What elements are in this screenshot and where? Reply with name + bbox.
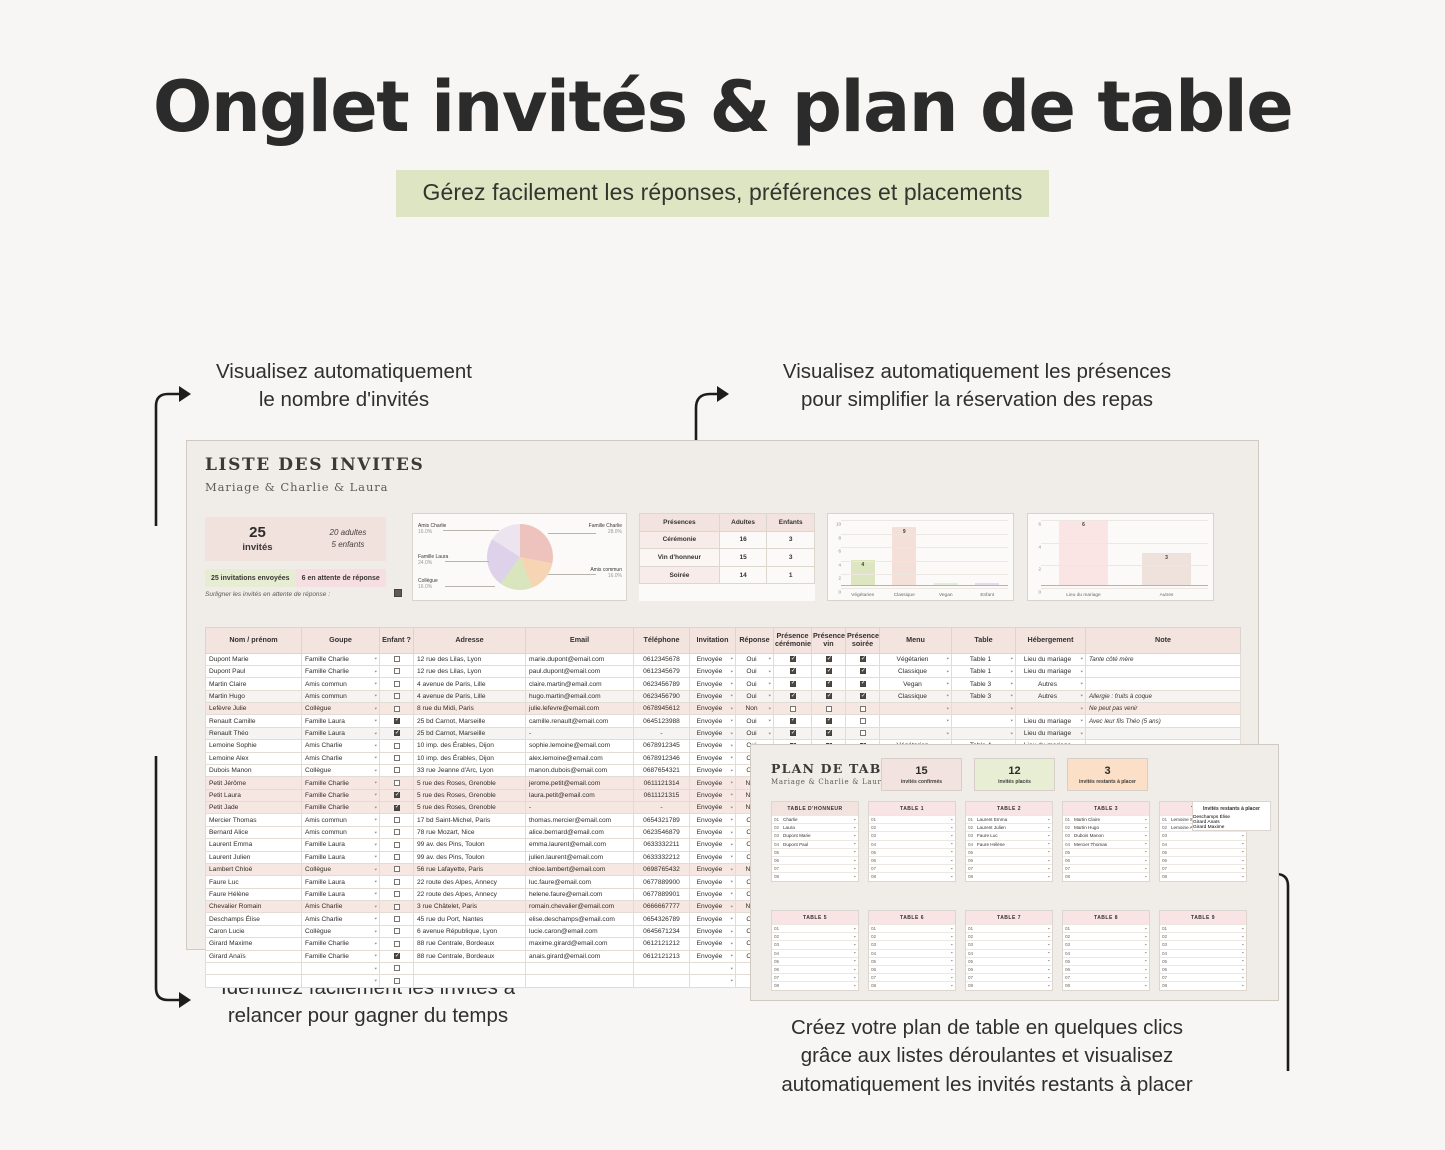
cell-groupe-dropdown[interactable]: Famille Laura [302,876,380,888]
guest-table-header-cell[interactable]: Hébergement [1016,628,1086,654]
plan-seat-row[interactable]: 01 [1063,924,1149,932]
plan-seat-row[interactable]: 07 [772,973,858,981]
cell-nom-prenom[interactable]: Lemoine Alex [206,752,302,764]
plan-seat-row[interactable]: 04Faure Hélène [966,840,1052,848]
cell-email[interactable]: laura.petit@email.com [526,789,634,801]
cell-email[interactable]: chloe.lambert@email.com [526,863,634,875]
cell-nom-prenom[interactable]: Petit Jérôme [206,777,302,789]
cell-hebergement-dropdown[interactable]: Lieu du mariage [1016,727,1086,739]
cell-email[interactable]: marie.dupont@email.com [526,653,634,665]
cell-telephone[interactable] [634,962,690,974]
cell-adresse[interactable]: 22 route des Alpes, Annecy [414,876,526,888]
cell-enfant-checkbox[interactable] [394,706,400,712]
cell-invitation-dropdown[interactable]: Envoyée [690,802,736,814]
cell-enfant[interactable] [380,653,414,665]
cell-invitation-dropdown[interactable]: Envoyée [690,888,736,900]
plan-seat-row[interactable]: 02 [1160,932,1246,940]
cell-nom-prenom[interactable]: Petit Jade [206,802,302,814]
cell-groupe-dropdown[interactable]: Famille Charlie [302,802,380,814]
cell-presence-vin[interactable] [812,703,846,715]
plan-seat-row[interactable]: 01 [1160,924,1246,932]
cell-note[interactable]: Tante côté mère [1086,653,1241,665]
cell-menu-dropdown[interactable]: Végétarien [880,653,952,665]
cell-presence-soiree[interactable] [846,653,880,665]
cell-enfant-checkbox[interactable] [394,805,400,811]
cell-presence-soiree-checkbox[interactable] [860,718,866,724]
cell-invitation-dropdown[interactable]: Envoyée [690,752,736,764]
guest-table-header-cell[interactable]: Menu [880,628,952,654]
cell-table-dropdown[interactable] [952,715,1016,727]
plan-seat-row[interactable]: 06 [966,965,1052,973]
cell-groupe-dropdown[interactable]: Amis Charlie [302,913,380,925]
cell-enfant[interactable] [380,839,414,851]
plan-seat-row[interactable]: 03 [869,831,955,839]
plan-seat-row[interactable]: 05 [772,957,858,965]
cell-groupe-dropdown[interactable]: Collègue [302,764,380,776]
cell-enfant[interactable] [380,703,414,715]
plan-seat-row[interactable]: 03 [1160,831,1246,839]
cell-table-dropdown[interactable] [952,727,1016,739]
cell-note[interactable]: Ne peut pas venir [1086,703,1241,715]
cell-enfant-checkbox[interactable] [394,755,400,761]
cell-menu-dropdown[interactable] [880,715,952,727]
cell-adresse[interactable]: 12 rue des Lilas, Lyon [414,653,526,665]
plan-seat-row[interactable]: 08 [1160,981,1246,989]
cell-nom-prenom[interactable]: Caron Lucie [206,925,302,937]
cell-presence-vin[interactable] [812,678,846,690]
cell-enfant[interactable] [380,913,414,925]
plan-seat-row[interactable]: 04 [966,949,1052,957]
cell-presence-ceremonie-checkbox[interactable] [790,668,796,674]
cell-groupe-dropdown[interactable]: Amis Charlie [302,740,380,752]
cell-enfant-checkbox[interactable] [394,854,400,860]
cell-reponse-dropdown[interactable]: Oui [736,690,774,702]
cell-enfant[interactable] [380,975,414,987]
cell-telephone[interactable]: 0611121314 [634,777,690,789]
cell-adresse[interactable]: 5 rue des Roses, Grenoble [414,789,526,801]
plan-seat-row[interactable]: 02 [869,823,955,831]
cell-adresse[interactable]: 6 avenue République, Lyon [414,925,526,937]
plan-seat-row[interactable]: 01 [869,924,955,932]
cell-telephone[interactable]: 0612345678 [634,653,690,665]
guest-table-header-cell[interactable]: Invitation [690,628,736,654]
cell-groupe-dropdown[interactable]: Famille Charlie [302,938,380,950]
cell-email[interactable]: sophie.lemoine@email.com [526,740,634,752]
cell-enfant[interactable] [380,777,414,789]
plan-seat-row[interactable]: 06 [869,965,955,973]
cell-email[interactable]: romain.chevalier@email.com [526,901,634,913]
cell-enfant[interactable] [380,962,414,974]
cell-nom-prenom[interactable] [206,962,302,974]
plan-seat-row[interactable]: 03 [1160,940,1246,948]
cell-presence-vin-checkbox[interactable] [826,681,832,687]
cell-email[interactable] [526,962,634,974]
cell-groupe-dropdown[interactable]: Collègue [302,703,380,715]
cell-presence-vin-checkbox[interactable] [826,718,832,724]
cell-invitation-dropdown[interactable]: Envoyée [690,814,736,826]
cell-adresse[interactable]: 10 imp. des Érables, Dijon [414,752,526,764]
cell-menu-dropdown[interactable] [880,703,952,715]
cell-email[interactable]: julien.laurent@email.com [526,851,634,863]
cell-telephone[interactable]: 0623546879 [634,826,690,838]
plan-seat-row[interactable]: 03Dubois Manon [1063,831,1149,839]
plan-seat-row[interactable]: 05 [869,957,955,965]
guest-table-header-cell[interactable]: Note [1086,628,1241,654]
cell-groupe-dropdown[interactable]: Amis commun [302,690,380,702]
cell-presence-ceremonie[interactable] [774,715,812,727]
cell-enfant[interactable] [380,752,414,764]
cell-enfant[interactable] [380,715,414,727]
plan-seat-row[interactable]: 03 [772,940,858,948]
cell-presence-ceremonie-checkbox[interactable] [790,706,796,712]
plan-seat-row[interactable]: 06 [966,856,1052,864]
cell-menu-dropdown[interactable]: Vegan [880,678,952,690]
plan-seat-row[interactable]: 08 [772,872,858,880]
guest-table-header-cell[interactable]: Téléphone [634,628,690,654]
cell-nom-prenom[interactable]: Dupont Marie [206,653,302,665]
plan-seat-row[interactable]: 06 [1160,856,1246,864]
cell-groupe-dropdown[interactable]: Amis commun [302,826,380,838]
cell-enfant[interactable] [380,950,414,962]
plan-seat-row[interactable]: 02 [966,932,1052,940]
cell-nom-prenom[interactable]: Laurent Emma [206,839,302,851]
table-row[interactable]: Dupont MarieFamille Charlie12 rue des Li… [206,653,1241,665]
cell-enfant[interactable] [380,690,414,702]
plan-seat-row[interactable]: 03Faure Luc [966,831,1052,839]
cell-presence-vin-checkbox[interactable] [826,706,832,712]
cell-presence-vin-checkbox[interactable] [826,693,832,699]
cell-enfant-checkbox[interactable] [394,879,400,885]
cell-invitation-dropdown[interactable]: Envoyée [690,703,736,715]
plan-seat-row[interactable]: 08 [966,981,1052,989]
cell-adresse[interactable]: 4 avenue de Paris, Lille [414,678,526,690]
cell-presence-vin-checkbox[interactable] [826,656,832,662]
cell-adresse[interactable]: 22 route des Alpes, Annecy [414,888,526,900]
cell-groupe-dropdown[interactable]: Amis commun [302,678,380,690]
cell-enfant[interactable] [380,863,414,875]
cell-telephone[interactable]: 0677889900 [634,876,690,888]
cell-enfant-checkbox[interactable] [394,829,400,835]
plan-seat-row[interactable]: 01Laurent Emma [966,815,1052,823]
plan-seat-row[interactable]: 03 [1063,940,1149,948]
cell-note[interactable]: Avec leur fils Théo (5 ans) [1086,715,1241,727]
cell-groupe-dropdown[interactable]: Famille Charlie [302,665,380,677]
cell-reponse-dropdown[interactable]: Oui [736,715,774,727]
cell-presence-vin-checkbox[interactable] [826,668,832,674]
plan-seat-row[interactable]: 08 [966,872,1052,880]
cell-email[interactable]: claire.martin@email.com [526,678,634,690]
cell-invitation-dropdown[interactable]: Envoyée [690,826,736,838]
plan-seat-row[interactable]: 07 [869,864,955,872]
plan-seat-row[interactable]: 04Dupont Paul [772,840,858,848]
cell-presence-soiree-checkbox[interactable] [860,706,866,712]
cell-nom-prenom[interactable]: Lambert Chloé [206,863,302,875]
cell-nom-prenom[interactable]: Renault Camille [206,715,302,727]
cell-adresse[interactable]: 5 rue des Roses, Grenoble [414,802,526,814]
guest-table-header-cell[interactable]: Table [952,628,1016,654]
cell-menu-dropdown[interactable]: Classique [880,690,952,702]
cell-adresse[interactable]: 25 bd Carnot, Marseille [414,727,526,739]
cell-note[interactable] [1086,727,1241,739]
plan-seat-guest[interactable]: Mercier Thomas [1074,842,1147,847]
cell-adresse[interactable]: 3 rue Châtelet, Paris [414,901,526,913]
cell-nom-prenom[interactable]: Lemoine Sophie [206,740,302,752]
cell-enfant-checkbox[interactable] [394,693,400,699]
cell-enfant-checkbox[interactable] [394,656,400,662]
cell-nom-prenom[interactable]: Bernard Alice [206,826,302,838]
cell-telephone[interactable]: 0654326789 [634,913,690,925]
plan-seat-row[interactable]: 04 [1160,840,1246,848]
cell-enfant-checkbox[interactable] [394,978,400,984]
cell-email[interactable]: helene.faure@email.com [526,888,634,900]
cell-telephone[interactable]: 0678912345 [634,740,690,752]
plan-seat-row[interactable]: 01Martin Claire [1063,815,1149,823]
cell-invitation-dropdown[interactable]: Envoyée [690,764,736,776]
plan-seat-row[interactable]: 05 [1063,957,1149,965]
plan-seat-row[interactable]: 05 [966,848,1052,856]
cell-enfant[interactable] [380,901,414,913]
plan-seat-row[interactable]: 06 [869,856,955,864]
cell-email[interactable]: elise.deschamps@email.com [526,913,634,925]
cell-adresse[interactable]: 10 imp. des Érables, Dijon [414,740,526,752]
plan-seat-row[interactable]: 02 [772,932,858,940]
table-row[interactable]: Renault ThéoFamille Laura25 bd Carnot, M… [206,727,1241,739]
plan-seat-guest[interactable]: Martin Hugo [1074,825,1147,830]
guest-table-header-cell[interactable]: Email [526,628,634,654]
cell-adresse[interactable]: 8 rue du Midi, Paris [414,703,526,715]
cell-adresse[interactable]: 12 rue des Lilas, Lyon [414,665,526,677]
plan-seat-row[interactable]: 06 [1063,965,1149,973]
cell-groupe-dropdown[interactable]: Famille Laura [302,715,380,727]
cell-enfant-checkbox[interactable] [394,792,400,798]
cell-table-dropdown[interactable] [952,703,1016,715]
plan-seat-row[interactable]: 04 [1063,949,1149,957]
cell-email[interactable]: anais.girard@email.com [526,950,634,962]
cell-telephone[interactable]: 0611121315 [634,789,690,801]
cell-email[interactable]: hugo.martin@email.com [526,690,634,702]
cell-table-dropdown[interactable]: Table 3 [952,678,1016,690]
cell-presence-ceremonie-checkbox[interactable] [790,693,796,699]
plan-seat-guest[interactable]: Laurent Emma [977,817,1050,822]
cell-enfant-checkbox[interactable] [394,965,400,971]
cell-adresse[interactable]: 99 av. des Pins, Toulon [414,851,526,863]
plan-seat-row[interactable]: 08 [1160,872,1246,880]
plan-seat-row[interactable]: 05 [1063,848,1149,856]
cell-nom-prenom[interactable]: Renault Théo [206,727,302,739]
cell-adresse[interactable] [414,962,526,974]
cell-presence-soiree-checkbox[interactable] [860,668,866,674]
plan-seat-row[interactable]: 04 [1160,949,1246,957]
cell-note[interactable] [1086,665,1241,677]
cell-enfant-checkbox[interactable] [394,916,400,922]
cell-enfant-checkbox[interactable] [394,681,400,687]
cell-groupe-dropdown[interactable]: Collègue [302,925,380,937]
cell-enfant-checkbox[interactable] [394,767,400,773]
cell-table-dropdown[interactable]: Table 1 [952,665,1016,677]
cell-enfant-checkbox[interactable] [394,780,400,786]
cell-presence-soiree[interactable] [846,665,880,677]
cell-adresse[interactable]: 17 bd Saint-Michel, Paris [414,814,526,826]
cell-groupe-dropdown[interactable]: Famille Charlie [302,653,380,665]
cell-reponse-dropdown[interactable]: Non [736,703,774,715]
plan-seat-row[interactable]: 07 [1160,973,1246,981]
cell-telephone[interactable]: 0623456789 [634,678,690,690]
cell-nom-prenom[interactable]: Faure Hélène [206,888,302,900]
cell-telephone[interactable]: 0677889901 [634,888,690,900]
plan-seat-row[interactable]: 02 [1063,932,1149,940]
plan-seat-row[interactable]: 06 [772,856,858,864]
cell-presence-soiree[interactable] [846,727,880,739]
cell-invitation-dropdown[interactable] [690,975,736,987]
cell-adresse[interactable]: 88 rue Centrale, Bordeaux [414,938,526,950]
cell-enfant-checkbox[interactable] [394,668,400,674]
cell-groupe-dropdown[interactable]: Famille Laura [302,727,380,739]
plan-seat-row[interactable]: 05 [966,957,1052,965]
cell-email[interactable]: alice.bernard@email.com [526,826,634,838]
cell-nom-prenom[interactable]: Martin Claire [206,678,302,690]
cell-invitation-dropdown[interactable]: Envoyée [690,913,736,925]
cell-invitation-dropdown[interactable]: Envoyée [690,863,736,875]
cell-invitation-dropdown[interactable]: Envoyée [690,678,736,690]
cell-enfant[interactable] [380,789,414,801]
cell-enfant[interactable] [380,876,414,888]
plan-seat-row[interactable]: 01Charlie [772,815,858,823]
cell-enfant[interactable] [380,665,414,677]
plan-seat-row[interactable]: 07 [966,973,1052,981]
guest-table-header-cell[interactable]: Présence vin [812,628,846,654]
plan-seat-row[interactable]: 06 [1160,965,1246,973]
cell-adresse[interactable]: 33 rue Jeanne d'Arc, Lyon [414,764,526,776]
cell-groupe-dropdown[interactable] [302,962,380,974]
cell-presence-vin[interactable] [812,690,846,702]
plan-seat-row[interactable]: 08 [772,981,858,989]
cell-hebergement-dropdown[interactable]: Lieu du mariage [1016,665,1086,677]
cell-menu-dropdown[interactable] [880,727,952,739]
cell-presence-vin[interactable] [812,665,846,677]
cell-groupe-dropdown[interactable]: Famille Charlie [302,950,380,962]
guest-table-header-cell[interactable]: Présence cérémonie [774,628,812,654]
cell-presence-ceremonie-checkbox[interactable] [790,730,796,736]
cell-invitation-dropdown[interactable]: Envoyée [690,789,736,801]
cell-email[interactable]: emma.laurent@email.com [526,839,634,851]
cell-invitation-dropdown[interactable]: Envoyée [690,740,736,752]
cell-reponse-dropdown[interactable]: Oui [736,727,774,739]
plan-seat-guest[interactable]: Dubois Manon [1074,833,1147,838]
cell-enfant[interactable] [380,814,414,826]
cell-invitation-dropdown[interactable]: Envoyée [690,876,736,888]
cell-enfant[interactable] [380,802,414,814]
cell-nom-prenom[interactable] [206,975,302,987]
cell-presence-ceremonie-checkbox[interactable] [790,656,796,662]
cell-nom-prenom[interactable]: Laurent Julien [206,851,302,863]
cell-telephone[interactable]: 0666667777 [634,901,690,913]
cell-enfant-checkbox[interactable] [394,891,400,897]
cell-invitation-dropdown[interactable]: Envoyée [690,690,736,702]
cell-telephone[interactable]: - [634,802,690,814]
cell-nom-prenom[interactable]: Girard Anaïs [206,950,302,962]
highlight-toggle-checkbox[interactable] [394,589,402,597]
cell-nom-prenom[interactable]: Petit Laura [206,789,302,801]
plan-seat-row[interactable]: 01 [966,924,1052,932]
cell-invitation-dropdown[interactable]: Envoyée [690,839,736,851]
cell-presence-vin-checkbox[interactable] [826,730,832,736]
plan-seat-row[interactable]: 07 [1160,864,1246,872]
cell-telephone[interactable]: 0612121213 [634,950,690,962]
cell-presence-ceremonie[interactable] [774,665,812,677]
cell-enfant[interactable] [380,826,414,838]
cell-telephone[interactable]: 0678912346 [634,752,690,764]
plan-seat-row[interactable]: 04 [869,949,955,957]
plan-seat-row[interactable]: 02Laura [772,823,858,831]
cell-adresse[interactable]: 4 avenue de Paris, Lille [414,690,526,702]
cell-enfant-checkbox[interactable] [394,730,400,736]
cell-nom-prenom[interactable]: Lefèvre Julie [206,703,302,715]
plan-seat-row[interactable]: 07 [1063,973,1149,981]
plan-seat-row[interactable]: 05 [1160,848,1246,856]
cell-adresse[interactable]: 5 rue des Roses, Grenoble [414,777,526,789]
cell-nom-prenom[interactable]: Faure Luc [206,876,302,888]
guest-table-header-cell[interactable]: Nom / prénom [206,628,302,654]
plan-seat-row[interactable]: 08 [869,981,955,989]
cell-groupe-dropdown[interactable]: Famille Laura [302,888,380,900]
cell-email[interactable]: manon.dubois@email.com [526,764,634,776]
plan-seat-row[interactable]: 05 [772,848,858,856]
cell-telephone[interactable]: - [634,727,690,739]
plan-seat-guest[interactable]: Martin Claire [1074,817,1147,822]
plan-seat-row[interactable]: 06 [1063,856,1149,864]
plan-seat-row[interactable]: 04 [772,949,858,957]
plan-seat-row[interactable]: 07 [772,864,858,872]
cell-enfant-checkbox[interactable] [394,941,400,947]
table-row[interactable]: Martin ClaireAmis commun4 avenue de Pari… [206,678,1241,690]
table-row[interactable]: Martin HugoAmis commun4 avenue de Paris,… [206,690,1241,702]
cell-telephone[interactable]: 0623456790 [634,690,690,702]
plan-seat-row[interactable]: 07 [869,973,955,981]
cell-email[interactable]: julie.lefevre@email.com [526,703,634,715]
cell-adresse[interactable]: 99 av. des Pins, Toulon [414,839,526,851]
cell-email[interactable]: thomas.mercier@email.com [526,814,634,826]
plan-seat-row[interactable]: 06 [772,965,858,973]
cell-nom-prenom[interactable]: Girard Maxime [206,938,302,950]
cell-telephone[interactable]: 0645671234 [634,925,690,937]
cell-enfant[interactable] [380,925,414,937]
cell-table-dropdown[interactable]: Table 1 [952,653,1016,665]
cell-hebergement-dropdown[interactable]: Lieu du mariage [1016,653,1086,665]
cell-telephone[interactable]: 0687654321 [634,764,690,776]
cell-enfant-checkbox[interactable] [394,817,400,823]
cell-groupe-dropdown[interactable]: Famille Laura [302,839,380,851]
cell-invitation-dropdown[interactable]: Envoyée [690,851,736,863]
plan-seat-row[interactable]: 08 [1063,981,1149,989]
plan-seat-row[interactable]: 08 [869,872,955,880]
cell-reponse-dropdown[interactable]: Oui [736,653,774,665]
cell-presence-soiree-checkbox[interactable] [860,681,866,687]
plan-seat-guest[interactable]: Laura [783,825,856,830]
cell-nom-prenom[interactable]: Dupont Paul [206,665,302,677]
cell-presence-soiree-checkbox[interactable] [860,693,866,699]
cell-invitation-dropdown[interactable]: Envoyée [690,925,736,937]
cell-email[interactable]: alex.lemoine@email.com [526,752,634,764]
cell-presence-vin[interactable] [812,727,846,739]
cell-adresse[interactable]: 25 bd Carnot, Marseille [414,715,526,727]
cell-invitation-dropdown[interactable]: Envoyée [690,938,736,950]
guest-table-header-cell[interactable]: Goupe [302,628,380,654]
plan-seat-row[interactable]: 02Martin Hugo [1063,823,1149,831]
cell-enfant[interactable] [380,678,414,690]
plan-seat-row[interactable]: 03Dupont Marie [772,831,858,839]
plan-seat-guest[interactable]: Faure Hélène [977,842,1050,847]
cell-table-dropdown[interactable]: Table 3 [952,690,1016,702]
